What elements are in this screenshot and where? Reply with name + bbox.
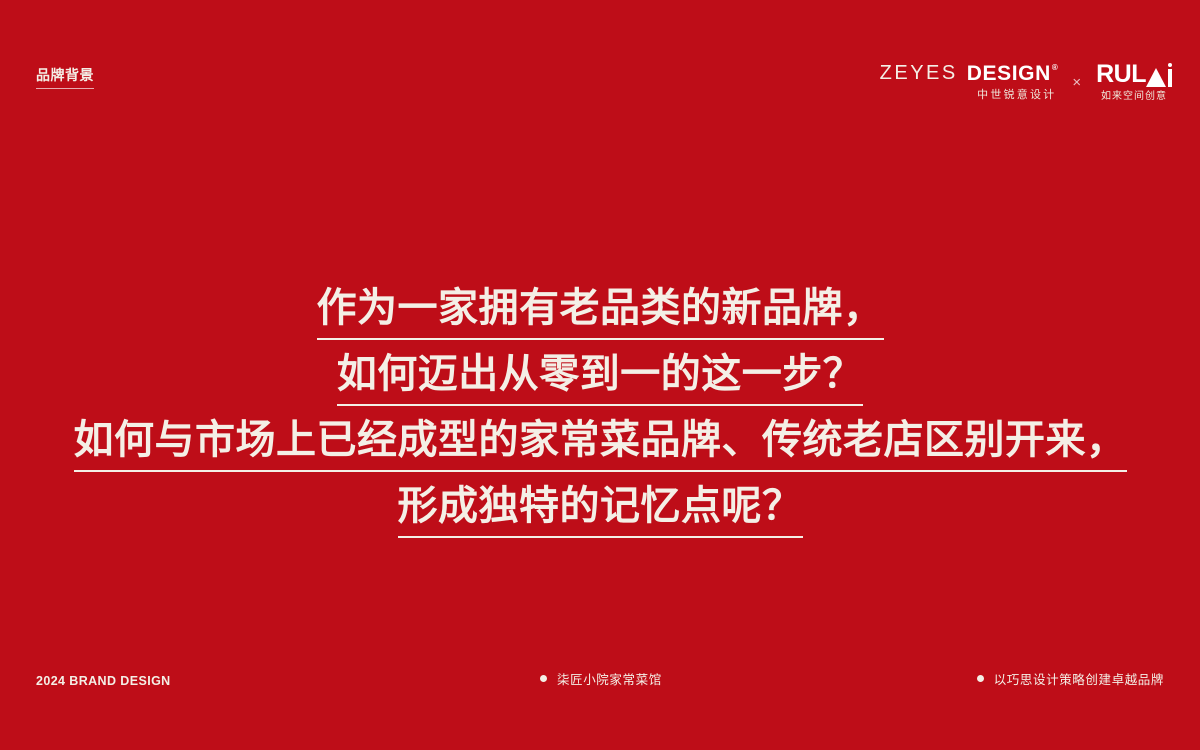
footer-tagline-text: 以巧思设计策略创建卓越品牌: [994, 669, 1164, 688]
headline-block: 作为一家拥有老品类的新品牌， 如何迈出从零到一的这一步？ 如何与市场上已经成型的…: [0, 275, 1200, 539]
bullet-dot-icon: [540, 675, 547, 682]
headline-line-3: 如何与市场上已经成型的家常菜品牌、传统老店区别开来，: [0, 407, 1200, 473]
footer-tagline: 以巧思设计策略创建卓越品牌: [977, 669, 1164, 688]
headline-line-3-text: 如何与市场上已经成型的家常菜品牌、传统老店区别开来，: [74, 414, 1127, 472]
headline-line-2-text: 如何迈出从零到一的这一步？: [337, 348, 864, 406]
headline-line-1: 作为一家拥有老品类的新品牌，: [0, 275, 1200, 341]
rulai-triangle-a-icon: [1146, 68, 1166, 87]
slide-footer: 2024 BRAND DESIGN 柒匠小院家常菜馆 以巧思设计策略创建卓越品牌: [0, 650, 1200, 750]
rulai-i-dot-icon: [1168, 63, 1172, 67]
headline-line-4-text: 形成独特的记忆点呢？: [398, 480, 803, 538]
registered-trademark-icon: ®: [1052, 63, 1059, 72]
rulai-subtitle: 如来空间创意: [1101, 92, 1167, 102]
footer-client-name-text: 柒匠小院家常菜馆: [557, 669, 662, 688]
rulai-logo: RUL 如来空间创意: [1096, 62, 1172, 102]
design-wordmark-text: DESIGN: [967, 62, 1051, 85]
zeyes-wordmark-row: ZEYES DESIGN®: [880, 63, 1058, 84]
bullet-dot-icon: [977, 675, 984, 682]
logo-lockup: ZEYES DESIGN® 中世锐意设计 × RUL 如来空间创意: [880, 62, 1172, 102]
footer-client-name: 柒匠小院家常菜馆: [540, 669, 662, 688]
design-wordmark: DESIGN®: [967, 63, 1058, 84]
logo-separator-x-icon: ×: [1070, 74, 1083, 91]
headline-line-4: 形成独特的记忆点呢？: [0, 473, 1200, 539]
headline-line-2: 如何迈出从零到一的这一步？: [0, 341, 1200, 407]
slide-header: 品牌背景 ZEYES DESIGN® 中世锐意设计 × RUL 如来空间创意: [0, 0, 1200, 130]
rulai-i-stem-icon: [1168, 69, 1172, 87]
rulai-wordmark: RUL: [1096, 62, 1172, 87]
rulai-letter-i: [1168, 63, 1172, 87]
zeyes-wordmark: ZEYES: [880, 63, 958, 83]
section-tag: 品牌背景: [36, 68, 94, 89]
zeyes-subtitle: 中世锐意设计: [977, 90, 1056, 101]
zeyes-design-logo: ZEYES DESIGN® 中世锐意设计: [880, 63, 1058, 101]
headline-line-1-text: 作为一家拥有老品类的新品牌，: [317, 282, 884, 340]
footer-brand-year: 2024 BRAND DESIGN: [36, 674, 171, 688]
rulai-wordmark-rul: RUL: [1096, 62, 1146, 87]
